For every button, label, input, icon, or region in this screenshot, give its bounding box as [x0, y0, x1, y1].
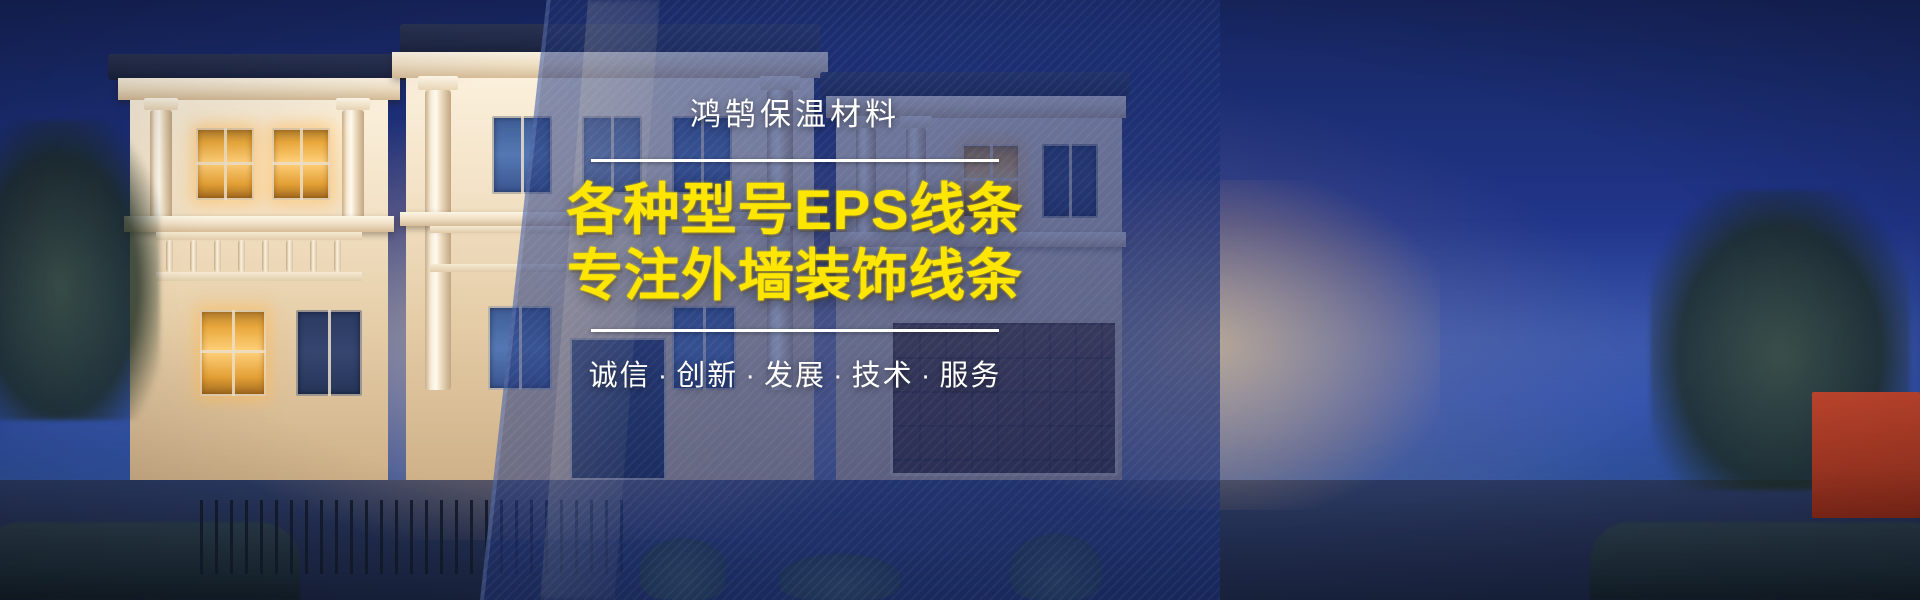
divider-top [591, 159, 999, 162]
hedge-right [1590, 522, 1920, 600]
slogan-item: 诚信 [589, 360, 651, 392]
slogan-list: 诚信·创新·发展·技术·服务 [560, 352, 1030, 394]
left-wing-mid-cornice [124, 216, 394, 232]
baluster [166, 240, 173, 272]
banner-copy: 鸿鹄保温材料 各种型号EPS线条 专注外墙装饰线条 诚信·创新·发展·技术·服务 [560, 96, 1030, 394]
slogan-separator: · [826, 360, 852, 392]
slogan-separator: · [914, 360, 940, 392]
slogan-item: 发展 [764, 360, 826, 392]
left-balcony-base [156, 272, 362, 281]
tree-left [0, 120, 160, 420]
hero-banner: 鸿鹄保温材料 各种型号EPS线条 专注外墙装饰线条 诚信·创新·发展·技术·服务 [0, 0, 1920, 600]
red-structure [1812, 392, 1920, 518]
divider-bottom [591, 329, 999, 332]
headline-group: 各种型号EPS线条 专注外墙装饰线条 [560, 180, 1030, 305]
left-wing-cornice [118, 78, 400, 100]
window-mullion [272, 162, 330, 165]
window-mullion [232, 310, 235, 396]
baluster [262, 240, 269, 272]
center-col-cap-1 [418, 76, 458, 90]
slogan-separator: · [651, 360, 677, 392]
slogan-item: 创新 [676, 360, 738, 392]
slogan-item: 服务 [939, 360, 1001, 392]
left-wing-roof [108, 54, 408, 80]
headline-line-1: 各种型号EPS线条 [560, 180, 1030, 239]
baluster [238, 240, 245, 272]
baluster [190, 240, 197, 272]
brand-eyebrow: 鸿鹄保温材料 [560, 96, 1030, 133]
left-balcony-top-rail [156, 232, 362, 240]
headline-line-2: 专注外墙装饰线条 [560, 246, 1030, 305]
baluster [286, 240, 293, 272]
left-col-cap-1 [144, 98, 178, 110]
center-column-1 [425, 90, 451, 390]
baluster [310, 240, 317, 272]
baluster [214, 240, 221, 272]
left-column-2 [342, 110, 364, 222]
window-mullion [328, 310, 331, 396]
left-col-cap-2 [336, 98, 370, 110]
baluster [334, 240, 341, 272]
slogan-separator: · [738, 360, 764, 392]
window-mullion [521, 116, 524, 194]
slogan-item: 技术 [852, 360, 914, 392]
window-mullion [196, 162, 254, 165]
window-mullion [200, 350, 266, 353]
